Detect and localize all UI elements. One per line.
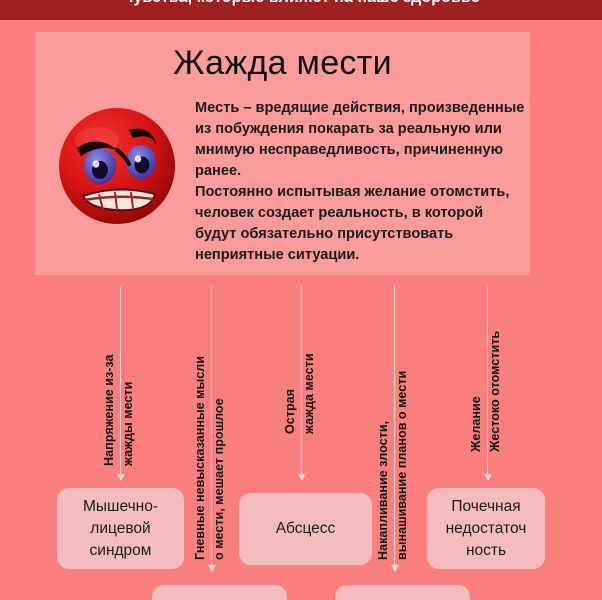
- flow-arrow-head-3: [298, 474, 306, 481]
- flow-arrow-head-1: [117, 474, 125, 481]
- flow-label-2-line1: Гневные невысказанные мысли: [193, 356, 207, 560]
- flow-label-3-line1: Острая: [283, 389, 297, 434]
- flow-label-4-line1: Накапливание злости,: [376, 421, 390, 560]
- flow-label-2: Гневные невысказанные мыслио мести, меша…: [191, 288, 229, 560]
- flow-label-5-line1: Желание: [469, 396, 483, 452]
- flow-label-1: Напряжение из-зажажды мести: [100, 296, 138, 466]
- angry-face-icon: [55, 104, 180, 229]
- flow-label-1-line1: Напряжение из-за: [102, 355, 116, 467]
- outcome-box-renal-failure[interactable]: Почечная недостаточ ность: [427, 488, 545, 569]
- infographic-page: Чувства, которые влияют на наше здоровье…: [0, 0, 602, 600]
- hero-description: Месть – вредящие действия, произведенные…: [195, 98, 525, 266]
- flow-arrow-head-4: [391, 565, 399, 572]
- flow-label-3-line2: жажда мести: [302, 353, 316, 434]
- flow-arrow-head-5: [484, 474, 492, 481]
- outcome-box-muscle-facial-syndrome[interactable]: Мышечно- лицевой синдром: [57, 488, 184, 569]
- flow-label-1-line2: жажды мести: [121, 382, 135, 466]
- flow-label-3: Остраяжажда мести: [281, 322, 319, 434]
- flow-label-5-line2: Жестоко отомстить: [488, 331, 502, 452]
- hero-card: Жажда мести: [35, 32, 530, 275]
- banner-title: Чувства, которые влияют на наше здоровье: [0, 0, 602, 7]
- flow-label-2-line2: о мести, мешает прошлое: [212, 398, 226, 560]
- outcome-box-abscess[interactable]: Абсцесс: [239, 493, 372, 565]
- flow-label-4: Накапливание злости,вынашивание планов о…: [374, 288, 412, 560]
- page-title: Жажда мести: [35, 44, 530, 83]
- header-banner: Чувства, которые влияют на наше здоровье: [0, 0, 602, 20]
- flow-arrow-head-2: [208, 565, 216, 572]
- outcome-box-partial-left[interactable]: [152, 585, 287, 600]
- flow-label-4-line2: вынашивание планов о мести: [395, 371, 409, 560]
- outcome-box-partial-right[interactable]: [335, 585, 470, 600]
- flow-label-5: ЖеланиеЖестоко отомстить: [467, 294, 505, 452]
